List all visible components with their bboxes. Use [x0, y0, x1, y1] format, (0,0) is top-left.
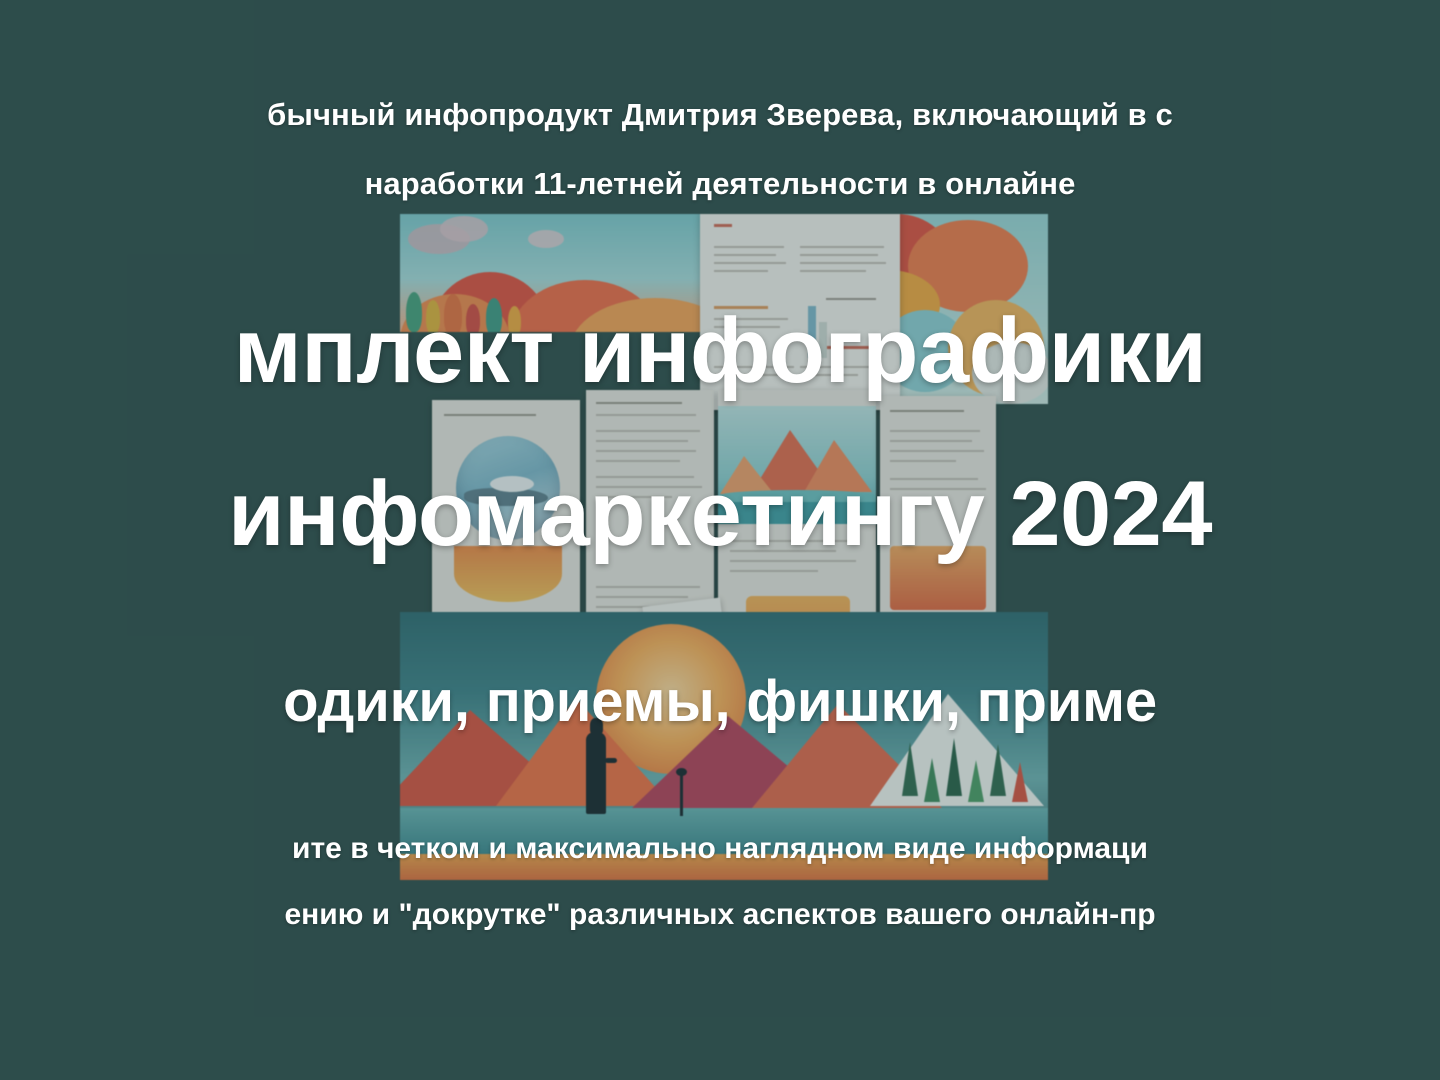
body-line-1: ите в четком и максимально наглядном вид… — [292, 832, 1148, 866]
headline-line-1: мплект инфографики — [234, 305, 1207, 397]
slide-canvas: бычный инфопродукт Дмитрия Зверева, вклю… — [0, 0, 1440, 1080]
text-layer: бычный инфопродукт Дмитрия Зверева, вклю… — [0, 0, 1440, 1080]
headline-line-2: инфомаркетингу 2024 — [228, 468, 1212, 560]
kicker-line-2: наработки 11-летней деятельности в онлай… — [365, 166, 1076, 202]
subhead-line-1: одики, приемы, фишки, приме — [283, 668, 1157, 735]
kicker-line-1: бычный инфопродукт Дмитрия Зверева, вклю… — [267, 97, 1173, 133]
body-line-2: ению и "докрутке" различных аспектов ваш… — [284, 898, 1155, 932]
